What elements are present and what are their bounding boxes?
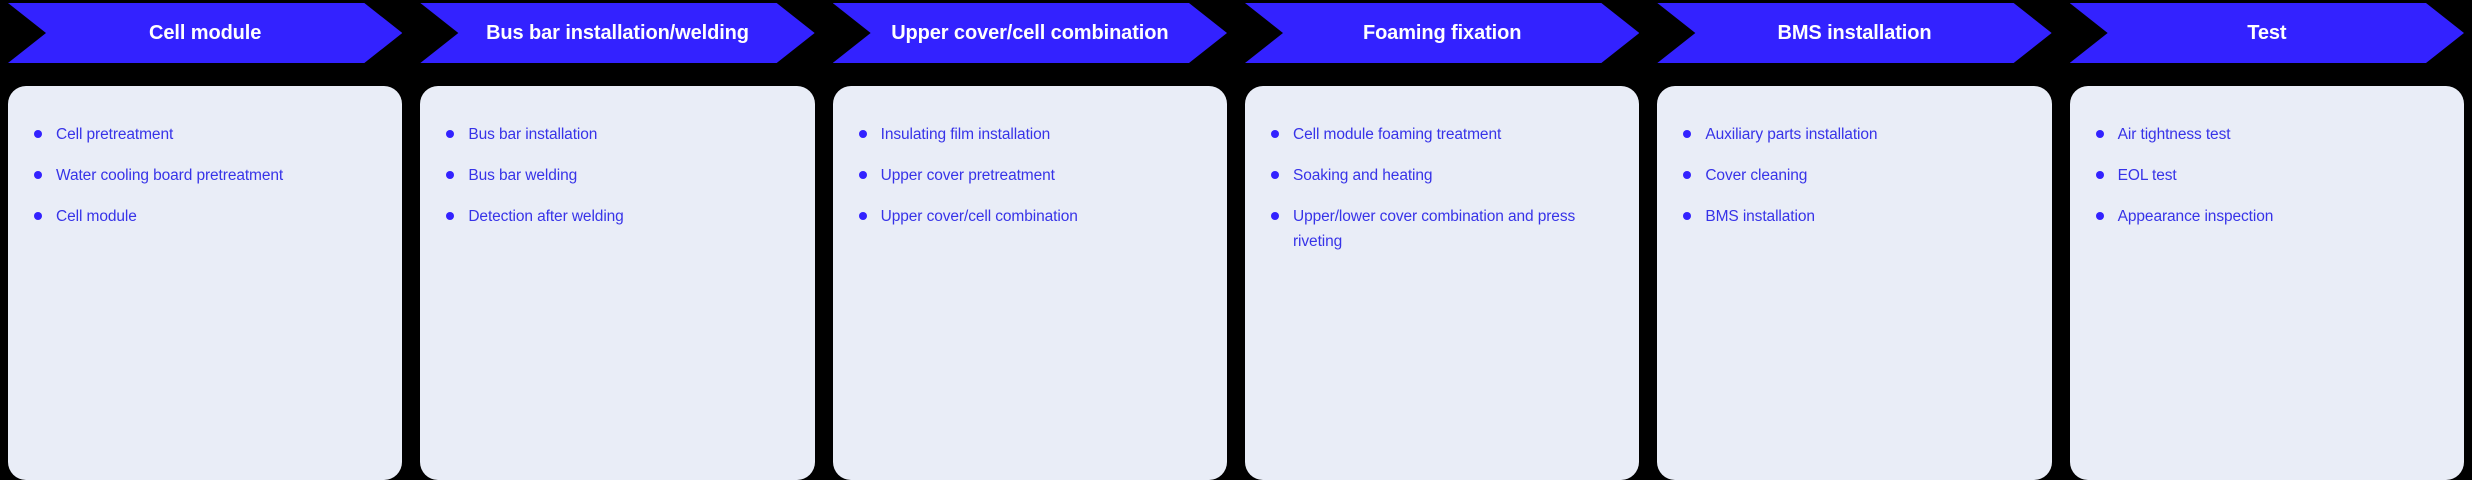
step-detail-card: Cell pretreatmentWater cooling board pre… (8, 86, 402, 480)
list-item: Upper cover pretreatment (859, 163, 1201, 188)
step-detail-card: Cell module foaming treatmentSoaking and… (1245, 86, 1639, 480)
bullet-icon (859, 130, 867, 138)
list-item: BMS installation (1683, 204, 2025, 229)
list-item-label: Cell module foaming treatment (1293, 126, 1501, 143)
step-task-list: Air tightness testEOL testAppearance ins… (2096, 122, 2438, 229)
step-detail-card: Air tightness testEOL testAppearance ins… (2070, 86, 2464, 480)
list-item-label: Cell pretreatment (56, 126, 173, 143)
step-task-list: Auxiliary parts installationCover cleani… (1683, 122, 2025, 229)
list-item: Detection after welding (446, 204, 788, 229)
list-item-label: Air tightness test (2118, 126, 2231, 143)
step-title: Bus bar installation/welding (486, 21, 749, 45)
bullet-icon (446, 212, 454, 220)
bullet-icon (34, 171, 42, 179)
list-item-label: Bus bar installation (468, 126, 597, 143)
bullet-icon (446, 130, 454, 138)
list-item-label: BMS installation (1705, 208, 1815, 225)
list-item-label: Upper/lower cover combination and press … (1293, 208, 1575, 250)
list-item-label: EOL test (2118, 167, 2177, 184)
list-item-label: Insulating film installation (881, 126, 1051, 143)
step-title: Foaming fixation (1363, 21, 1521, 45)
list-item: Auxiliary parts installation (1683, 122, 2025, 147)
process-step: TestAir tightness testEOL testAppearance… (2070, 0, 2464, 456)
list-item-label: Bus bar welding (468, 167, 577, 184)
bullet-icon (1683, 171, 1691, 179)
list-item-label: Soaking and heating (1293, 167, 1432, 184)
step-header-chevron[interactable]: Foaming fixation (1245, 3, 1639, 63)
list-item-label: Cell module (56, 208, 137, 225)
list-item-label: Cover cleaning (1705, 167, 1807, 184)
list-item: Water cooling board pretreatment (34, 163, 376, 188)
list-item: Bus bar installation (446, 122, 788, 147)
list-item: Cell module (34, 204, 376, 229)
list-item: Cover cleaning (1683, 163, 2025, 188)
process-step: Foaming fixationCell module foaming trea… (1245, 0, 1639, 456)
step-task-list: Cell module foaming treatmentSoaking and… (1271, 122, 1613, 254)
list-item: Appearance inspection (2096, 204, 2438, 229)
step-title: Cell module (149, 21, 261, 45)
step-task-list: Bus bar installationBus bar weldingDetec… (446, 122, 788, 229)
list-item-label: Upper cover pretreatment (881, 167, 1055, 184)
step-header-chevron[interactable]: Upper cover/cell combination (833, 3, 1227, 63)
list-item-label: Detection after welding (468, 208, 623, 225)
bullet-icon (2096, 212, 2104, 220)
process-step: Upper cover/cell combinationInsulating f… (833, 0, 1227, 456)
list-item: Air tightness test (2096, 122, 2438, 147)
step-task-list: Insulating film installationUpper cover … (859, 122, 1201, 229)
bullet-icon (34, 212, 42, 220)
step-header-chevron[interactable]: Cell module (8, 3, 402, 63)
list-item: Cell pretreatment (34, 122, 376, 147)
step-task-list: Cell pretreatmentWater cooling board pre… (34, 122, 376, 229)
bullet-icon (1683, 212, 1691, 220)
process-step: BMS installationAuxiliary parts installa… (1657, 0, 2051, 456)
list-item-label: Upper cover/cell combination (881, 208, 1078, 225)
list-item: Upper cover/cell combination (859, 204, 1201, 229)
process-step: Cell moduleCell pretreatmentWater coolin… (8, 0, 402, 456)
list-item: Upper/lower cover combination and press … (1271, 204, 1613, 254)
list-item-label: Auxiliary parts installation (1705, 126, 1877, 143)
bullet-icon (1271, 171, 1279, 179)
step-title: Test (2247, 21, 2286, 45)
step-detail-card: Bus bar installationBus bar weldingDetec… (420, 86, 814, 480)
step-title: Upper cover/cell combination (891, 21, 1168, 45)
list-item: Soaking and heating (1271, 163, 1613, 188)
bullet-icon (34, 130, 42, 138)
list-item-label: Water cooling board pretreatment (56, 167, 283, 184)
bullet-icon (859, 212, 867, 220)
step-detail-card: Insulating film installationUpper cover … (833, 86, 1227, 480)
step-header-chevron[interactable]: Bus bar installation/welding (420, 3, 814, 63)
list-item: EOL test (2096, 163, 2438, 188)
bullet-icon (859, 171, 867, 179)
step-detail-card: Auxiliary parts installationCover cleani… (1657, 86, 2051, 480)
bullet-icon (1683, 130, 1691, 138)
list-item: Cell module foaming treatment (1271, 122, 1613, 147)
bullet-icon (446, 171, 454, 179)
step-header-chevron[interactable]: BMS installation (1657, 3, 2051, 63)
bullet-icon (1271, 130, 1279, 138)
bullet-icon (2096, 130, 2104, 138)
list-item: Insulating film installation (859, 122, 1201, 147)
list-item: Bus bar welding (446, 163, 788, 188)
process-step: Bus bar installation/weldingBus bar inst… (420, 0, 814, 456)
bullet-icon (2096, 171, 2104, 179)
bullet-icon (1271, 212, 1279, 220)
step-header-chevron[interactable]: Test (2070, 3, 2464, 63)
step-title: BMS installation (1778, 21, 1932, 45)
process-flow-diagram: Cell moduleCell pretreatmentWater coolin… (0, 0, 2472, 456)
list-item-label: Appearance inspection (2118, 208, 2274, 225)
